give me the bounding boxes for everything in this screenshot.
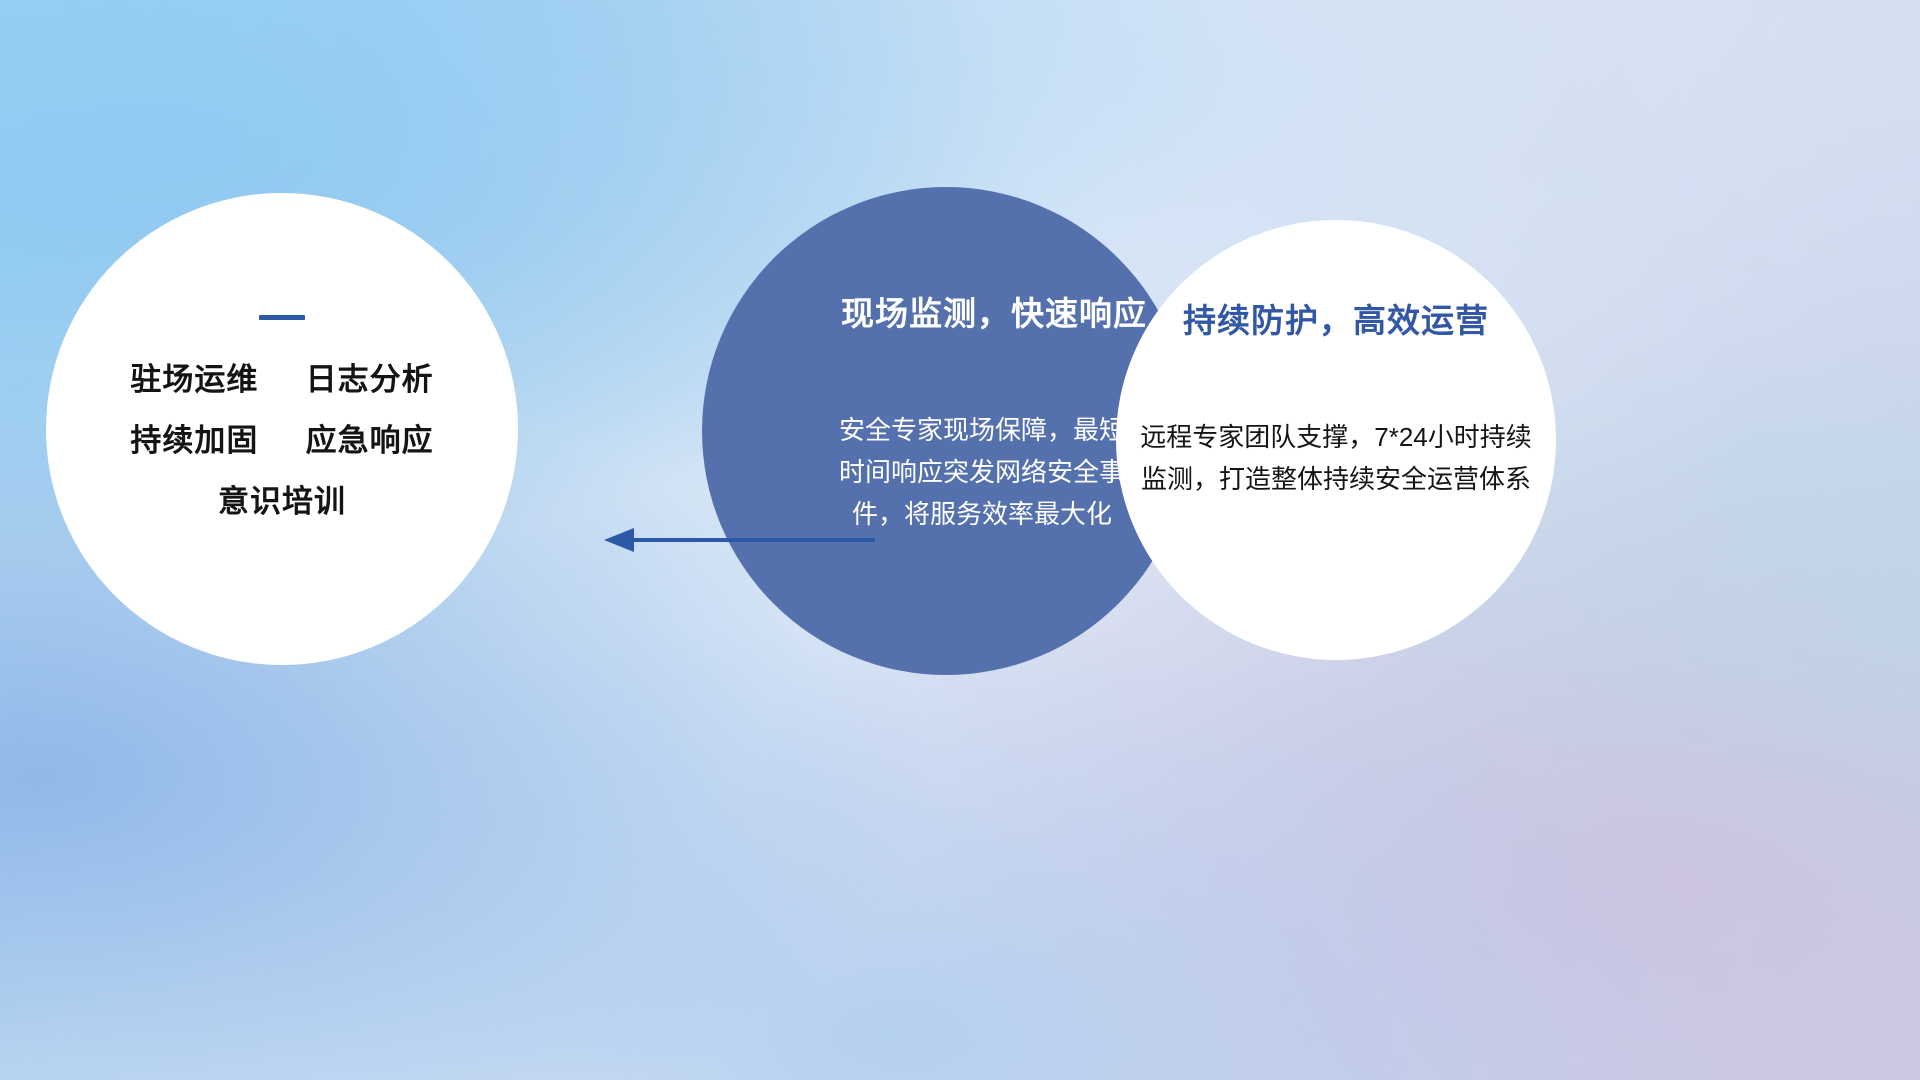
- capability-tag-chixujiagu: 持续加固: [130, 423, 258, 458]
- left-arrow-connector: [600, 520, 880, 560]
- middle-circle-body: 安全专家现场保障，最短时间响应突发网络安全事件，将服务效率最大化: [832, 409, 1132, 535]
- right-circle-content: 持续防护，高效运营 远程专家团队支撑，7*24小时持续监测，打造整体持续安全运营…: [1116, 220, 1556, 660]
- capability-tag-yingjixiangying: 应急响应: [306, 423, 434, 458]
- right-circle-title: 持续防护，高效运营: [1183, 294, 1489, 342]
- capability-tag-rizhifenxi: 日志分析: [306, 362, 434, 397]
- left-circle-content: 驻场运维 日志分析 持续加固 应急响应 意识培训: [46, 193, 518, 665]
- capability-tag-zhuchangyunwei: 驻场运维: [130, 362, 258, 397]
- slide-canvas: 驻场运维 日志分析 持续加固 应急响应 意识培训 现场监测，快速响应 安全专家现…: [0, 0, 1920, 1080]
- capability-row-3: 意识培训: [218, 486, 346, 517]
- capability-row-1: 驻场运维 日志分析: [130, 364, 433, 395]
- middle-circle-title: 现场监测，快速响应: [841, 287, 1147, 335]
- capability-row-2: 持续加固 应急响应: [130, 425, 433, 456]
- capability-tag-yishipeixun: 意识培训: [218, 484, 346, 519]
- right-circle-body: 远程专家团队支撑，7*24小时持续监测，打造整体持续安全运营体系: [1131, 416, 1541, 500]
- divider-rule: [259, 315, 305, 320]
